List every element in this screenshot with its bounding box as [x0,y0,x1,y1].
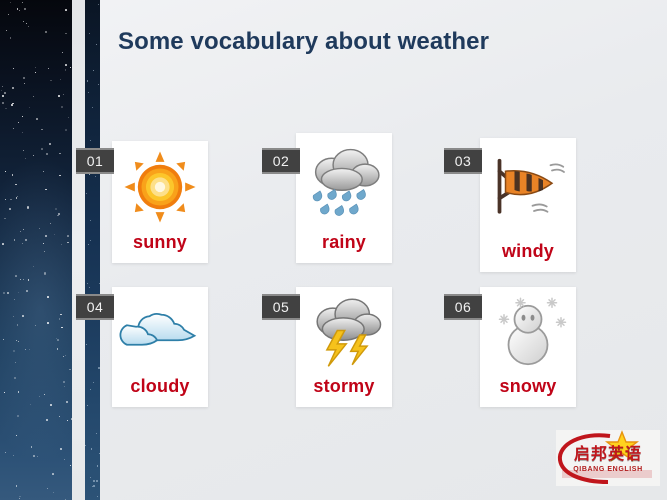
badge-number: 02 [273,153,290,169]
card-label: cloudy [130,376,189,407]
card-artwork [480,287,576,376]
card-artwork [112,141,208,232]
logo-english-text: QIBANG ENGLISH [562,466,654,473]
card-artwork [480,138,576,241]
sun-icon [123,150,197,224]
vocab-card-sunny[interactable]: sunny [112,141,208,263]
card-label: windy [502,241,554,272]
badge-number: 04 [87,299,104,315]
card-label: sunny [133,232,187,263]
windsock-icon [486,153,570,227]
badge-number: 03 [455,153,472,169]
divider-light-stripe [72,0,85,500]
card-artwork [112,287,208,376]
vocab-card-stormy[interactable]: stormy [296,287,392,407]
vocab-card-snowy[interactable]: snowy [480,287,576,407]
card-label: snowy [499,376,556,407]
thunder-cloud-icon [303,296,385,368]
rain-cloud-icon [304,144,384,222]
card-artwork [296,287,392,376]
badge-number: 06 [455,299,472,315]
card-number-badge-05: 05 [262,294,300,320]
card-label: stormy [313,376,374,407]
divider-dark-stripe [85,0,100,500]
starfield-background [0,0,72,500]
card-number-badge-04: 04 [76,294,114,320]
slide-canvas: Some vocabulary about weather [0,0,667,500]
logo-chinese-text: 启邦英语 [564,446,652,464]
card-number-badge-06: 06 [444,294,482,320]
vocab-card-cloudy[interactable]: cloudy [112,287,208,407]
card-label: rainy [322,232,366,263]
snowman-icon [486,295,570,369]
vocab-card-rainy[interactable]: rainy [296,133,392,263]
page-title: Some vocabulary about weather [118,28,489,56]
stars-layer [0,0,72,500]
badge-number: 05 [273,299,290,315]
badge-number: 01 [87,153,104,169]
card-artwork [296,133,392,232]
card-number-badge-02: 02 [262,148,300,174]
vocab-card-windy[interactable]: windy [480,138,576,272]
clouds-icon [118,301,202,363]
card-number-badge-03: 03 [444,148,482,174]
brand-logo: 启邦英语 QIBANG ENGLISH [556,430,660,486]
card-number-badge-01: 01 [76,148,114,174]
